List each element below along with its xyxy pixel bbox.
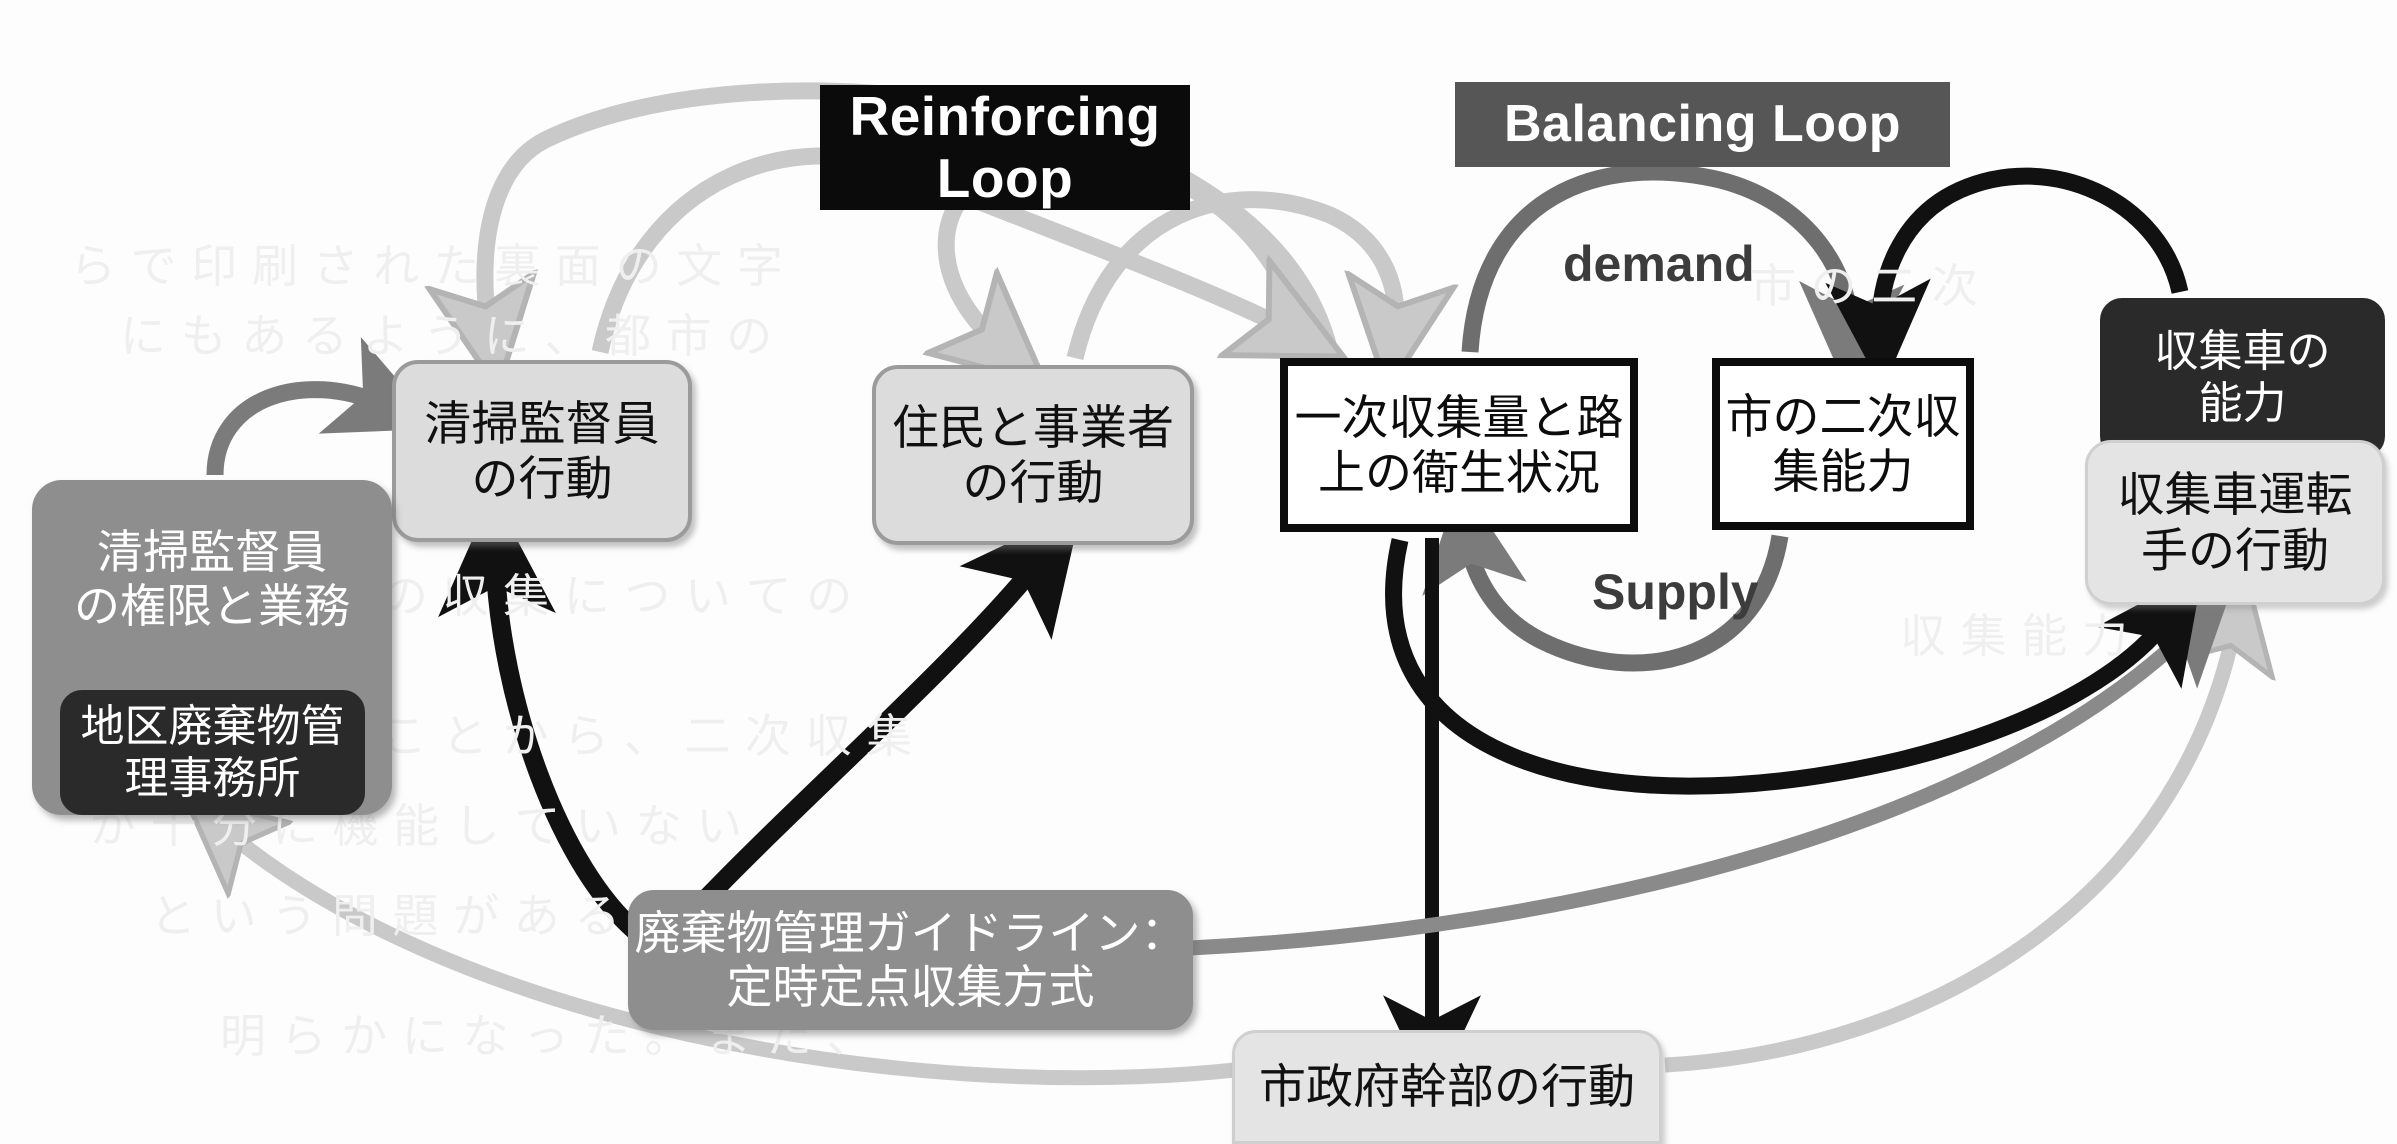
node-label: 市の二次収 集能力 (1720, 389, 1966, 500)
edge-primary-to-driver (1394, 540, 2168, 786)
node-city-official-action[interactable]: 市政府幹部の行動 (1232, 1030, 1662, 1144)
node-resident-business-action[interactable]: 住民と事業者 の行動 (872, 365, 1194, 545)
node-truck-driver-action[interactable]: 収集車運転 手の行動 (2085, 440, 2385, 605)
reinforcing-loop-banner: Reinforcing Loop (820, 85, 1190, 210)
node-cleaning-supervisor-action[interactable]: 清掃監督員 の行動 (392, 360, 692, 542)
node-truck-capacity[interactable]: 収集車の 能力 (2100, 298, 2385, 458)
edge-guideline-to-resident (700, 560, 1040, 905)
diagram-canvas: ら で 印 刷 さ れ た 裏 面 の 文 字 に も あ る よ う に 、 … (0, 0, 2397, 1144)
node-label: 住民と事業者 の行動 (876, 400, 1190, 511)
reinforcing-loop-text: Reinforcing Loop (820, 86, 1190, 209)
balancing-loop-banner: Balancing Loop (1455, 82, 1950, 167)
edge-city-official-to-driver (1665, 625, 2235, 1065)
edge-guideline-to-supervisor (495, 560, 640, 935)
node-label: 廃棄物管理ガイドライン： 定時定点収集方式 (631, 906, 1190, 1015)
node-city-secondary-capacity[interactable]: 市の二次収 集能力 (1712, 358, 1974, 530)
node-label: 清掃監督員 の権限と業務 (35, 525, 389, 634)
node-label: 市政府幹部の行動 (1235, 1059, 1659, 1114)
node-waste-guideline[interactable]: 廃棄物管理ガイドライン： 定時定点収集方式 (628, 890, 1193, 1030)
node-district-waste-office[interactable]: 地区廃棄物管 理事務所 (60, 690, 365, 815)
node-label: 収集車の 能力 (2103, 326, 2382, 430)
node-primary-collection[interactable]: 一次収集量と路 上の衛生状況 (1280, 358, 1638, 532)
node-label: 収集車運転 手の行動 (2088, 467, 2382, 578)
node-label: 清掃監督員 の行動 (396, 396, 688, 507)
node-label: 一次収集量と路 上の衛生状況 (1288, 390, 1630, 501)
balancing-loop-text: Balancing Loop (1455, 95, 1950, 153)
edge-authority-to-supervisor (215, 390, 385, 475)
demand-label: demand (1563, 235, 1755, 293)
supply-label: Supply (1592, 563, 1759, 621)
node-label: 地区廃棄物管 理事務所 (63, 701, 362, 805)
